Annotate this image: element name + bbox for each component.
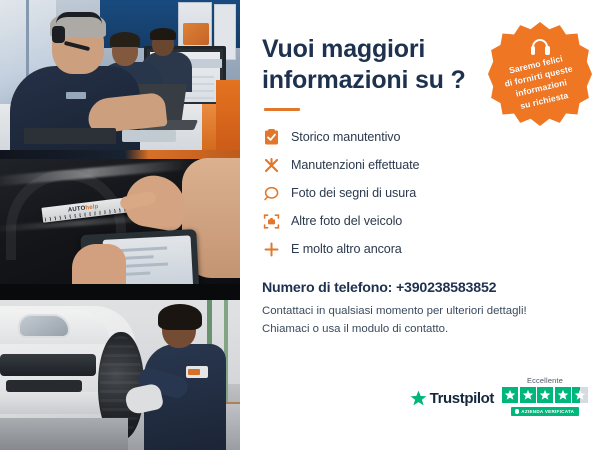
photo-bottom-shadow [0,284,240,300]
uniform-logo-patch [186,366,208,378]
tools-asterisk-icon [262,156,280,174]
scan-frame-icon [262,212,280,230]
phone-number[interactable]: +390238583852 [396,280,496,296]
second-agent-hair [110,32,140,47]
check-circle-icon [515,409,520,414]
headset-earcup [52,26,65,43]
car-lower-grille [6,380,82,392]
phone-line: Numero di telefono: +390238583852 [262,280,578,296]
star-filled [537,387,553,403]
verified-label: AZIENDA VERIFICATA [521,409,574,414]
promo-banner: AUTOhelp [0,0,600,450]
feature-label: Altre foto del veicolo [291,214,402,228]
photo-column: AUTOhelp [0,0,240,450]
orange-panel-secondary [202,104,216,150]
feature-item-storico-manutentivo: Storico manutentivo [262,123,578,151]
feature-label: E molto altro ancora [291,242,402,256]
contact-description: Contattaci in qualsiasi momento per ulte… [262,303,578,338]
clipboard-check-icon [262,128,280,146]
mechanic-hair [158,304,202,330]
vehicle-lift-platform [0,418,128,450]
background-agent-hair [150,28,176,40]
trustpilot-brand: Trustpilot [410,390,494,416]
feature-label: Storico manutentivo [291,130,400,144]
mechanic-wheel-inspection-photo [0,300,240,450]
feature-item-manutenzioni-effettuate: Manutenzioni effettuate [262,151,578,179]
feature-item-foto-segni-usura: Foto dei segni di usura [262,179,578,207]
star-filled [502,387,518,403]
wall-poster [178,2,212,48]
page-title: Vuoi maggiori informazioni su ? [262,34,472,95]
keyboard [24,128,116,144]
feature-item-molto-altro: E molto altro ancora [262,235,578,263]
plus-icon [262,240,280,258]
trustpilot-rating-block: Eccellente [502,376,588,417]
star-filled [555,387,571,403]
callout-badge: Saremo felici di fornirti queste informa… [488,22,592,126]
trustpilot-widget[interactable]: Trustpilot Eccellente [410,376,588,417]
orange-panel [216,80,240,150]
car-bumper [0,392,112,414]
car-panel-inspection-photo: AUTOhelp [0,150,240,300]
secondary-keyboard [122,130,176,142]
star-filled [520,387,536,403]
contact-line-2: Chiamaci o usa il modulo di contatto. [262,321,578,339]
feature-item-altre-foto-veicolo: Altre foto del veicolo [262,207,578,235]
trustpilot-star-icon [410,390,427,407]
contact-line-1: Contattaci in qualsiasi momento per ulte… [262,303,578,321]
car-headlight [18,314,70,338]
star-half [572,387,588,403]
feature-label: Foto dei segni di usura [291,186,416,200]
trustpilot-rating-label: Eccellente [527,376,563,385]
headset-earcup-right [545,46,550,55]
magnifier-icon [262,184,280,202]
feature-label: Manutenzioni effettuate [291,158,419,172]
feature-list: Storico manutentivo Manutenzioni effettu… [262,123,578,263]
trustpilot-name: Trustpilot [430,390,494,407]
content-panel: Vuoi maggiori informazioni su ? Saremo f… [240,0,600,450]
polo-logo [66,92,86,99]
phone-label: Numero di telefono: [262,280,392,296]
verified-business-badge: AZIENDA VERIFICATA [511,407,579,416]
headset-band [56,12,102,24]
car-grille [0,354,96,376]
headset-icon [530,39,550,55]
title-divider [264,108,300,111]
call-center-agents-photo [0,0,240,150]
trustpilot-stars [502,387,588,403]
headset-earcup-left [531,46,536,55]
